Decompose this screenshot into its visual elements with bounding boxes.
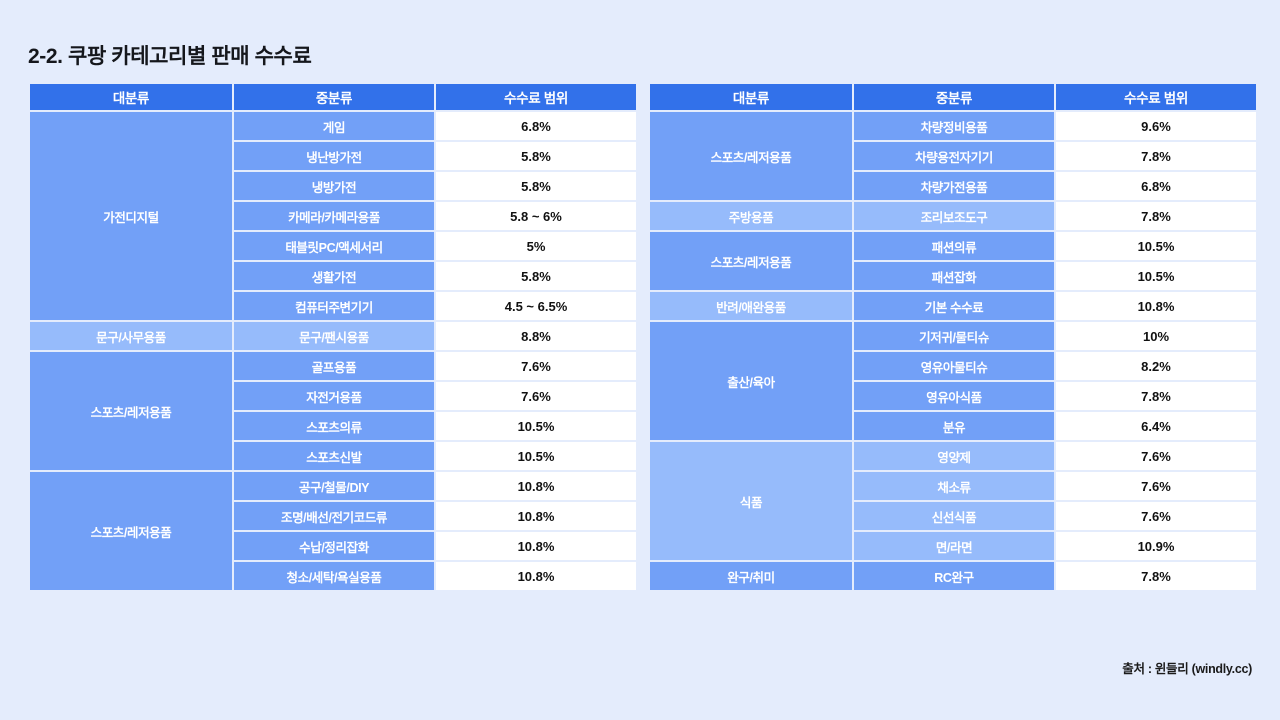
- table-row: 스포츠/레저용품골프용품7.6%: [30, 352, 636, 380]
- cell-middle-category: 패션의류: [854, 232, 1054, 260]
- table-row: 스포츠/레저용품패션의류10.5%: [650, 232, 1256, 260]
- cell-middle-category: 자전거용품: [234, 382, 434, 410]
- cell-middle-category: 채소류: [854, 472, 1054, 500]
- cell-fee-rate: 5.8%: [436, 172, 636, 200]
- cell-middle-category: 영유아물티슈: [854, 352, 1054, 380]
- cell-fee-rate: 10%: [1056, 322, 1256, 350]
- cell-middle-category: 스포츠의류: [234, 412, 434, 440]
- cell-middle-category: 냉난방가전: [234, 142, 434, 170]
- cell-middle-category: 문구/팬시용품: [234, 322, 434, 350]
- cell-middle-category: 영양제: [854, 442, 1054, 470]
- cell-fee-rate: 10.8%: [1056, 292, 1256, 320]
- cell-middle-category: 스포츠신발: [234, 442, 434, 470]
- cell-middle-category: 패션잡화: [854, 262, 1054, 290]
- fee-table-right-head: 대분류 중분류 수수료 범위: [650, 84, 1256, 110]
- page-title: 2-2. 쿠팡 카테고리별 판매 수수료: [28, 40, 311, 70]
- cell-major-category: 스포츠/레저용품: [30, 352, 232, 470]
- cell-fee-rate: 10.5%: [436, 412, 636, 440]
- cell-middle-category: 태블릿PC/액세서리: [234, 232, 434, 260]
- table-row: 출산/육아기저귀/물티슈10%: [650, 322, 1256, 350]
- cell-major-category: 주방용품: [650, 202, 852, 230]
- cell-fee-rate: 7.8%: [1056, 562, 1256, 590]
- cell-middle-category: 기본 수수료: [854, 292, 1054, 320]
- cell-major-category: 식품: [650, 442, 852, 560]
- header-rate: 수수료 범위: [1056, 84, 1256, 110]
- cell-middle-category: 생활가전: [234, 262, 434, 290]
- cell-middle-category: 게임: [234, 112, 434, 140]
- table-row: 식품영양제7.6%: [650, 442, 1256, 470]
- cell-fee-rate: 10.8%: [436, 562, 636, 590]
- cell-fee-rate: 7.8%: [1056, 382, 1256, 410]
- table-row: 주방용품조리보조도구7.8%: [650, 202, 1256, 230]
- cell-middle-category: 분유: [854, 412, 1054, 440]
- cell-fee-rate: 5%: [436, 232, 636, 260]
- header-major: 대분류: [650, 84, 852, 110]
- cell-middle-category: 조리보조도구: [854, 202, 1054, 230]
- fee-table-left-body: 가전디지털게임6.8%냉난방가전5.8%냉방가전5.8%카메라/카메라용품5.8…: [30, 112, 636, 590]
- cell-middle-category: RC완구: [854, 562, 1054, 590]
- cell-middle-category: 카메라/카메라용품: [234, 202, 434, 230]
- cell-middle-category: 컴퓨터주변기기: [234, 292, 434, 320]
- table-row: 완구/취미RC완구7.8%: [650, 562, 1256, 590]
- cell-fee-rate: 10.8%: [436, 472, 636, 500]
- cell-fee-rate: 5.8%: [436, 262, 636, 290]
- cell-middle-category: 차량가전용품: [854, 172, 1054, 200]
- cell-fee-rate: 6.4%: [1056, 412, 1256, 440]
- cell-fee-rate: 7.8%: [1056, 142, 1256, 170]
- cell-fee-rate: 10.5%: [1056, 232, 1256, 260]
- cell-major-category: 완구/취미: [650, 562, 852, 590]
- fee-table-left-wrap: 대분류 중분류 수수료 범위 가전디지털게임6.8%냉난방가전5.8%냉방가전5…: [28, 82, 632, 592]
- cell-fee-rate: 5.8 ~ 6%: [436, 202, 636, 230]
- cell-fee-rate: 7.6%: [436, 382, 636, 410]
- table-row: 스포츠/레저용품차량정비용품9.6%: [650, 112, 1256, 140]
- cell-fee-rate: 8.2%: [1056, 352, 1256, 380]
- cell-fee-rate: 10.9%: [1056, 532, 1256, 560]
- cell-fee-rate: 4.5 ~ 6.5%: [436, 292, 636, 320]
- fee-table-right-wrap: 대분류 중분류 수수료 범위 스포츠/레저용품차량정비용품9.6%차량용전자기기…: [648, 82, 1252, 592]
- table-row: 스포츠/레저용품공구/철물/DIY10.8%: [30, 472, 636, 500]
- table-row: 반려/애완용품기본 수수료10.8%: [650, 292, 1256, 320]
- cell-middle-category: 차량정비용품: [854, 112, 1054, 140]
- cell-major-category: 출산/육아: [650, 322, 852, 440]
- cell-fee-rate: 7.6%: [436, 352, 636, 380]
- cell-major-category: 스포츠/레저용품: [650, 112, 852, 200]
- cell-fee-rate: 6.8%: [1056, 172, 1256, 200]
- cell-middle-category: 골프용품: [234, 352, 434, 380]
- cell-fee-rate: 5.8%: [436, 142, 636, 170]
- header-rate: 수수료 범위: [436, 84, 636, 110]
- cell-fee-rate: 9.6%: [1056, 112, 1256, 140]
- cell-fee-rate: 8.8%: [436, 322, 636, 350]
- source-note: 출처 : 윈들리 (windly.cc): [1122, 658, 1252, 677]
- table-row: 문구/사무용품문구/팬시용품8.8%: [30, 322, 636, 350]
- fee-table-right-body: 스포츠/레저용품차량정비용품9.6%차량용전자기기7.8%차량가전용품6.8%주…: [650, 112, 1256, 590]
- cell-major-category: 가전디지털: [30, 112, 232, 320]
- cell-middle-category: 청소/세탁/욕실용품: [234, 562, 434, 590]
- cell-fee-rate: 10.5%: [436, 442, 636, 470]
- cell-middle-category: 신선식품: [854, 502, 1054, 530]
- table-row: 가전디지털게임6.8%: [30, 112, 636, 140]
- cell-middle-category: 공구/철물/DIY: [234, 472, 434, 500]
- cell-fee-rate: 7.6%: [1056, 502, 1256, 530]
- cell-major-category: 스포츠/레저용품: [650, 232, 852, 290]
- cell-middle-category: 조명/배선/전기코드류: [234, 502, 434, 530]
- cell-fee-rate: 7.8%: [1056, 202, 1256, 230]
- fee-table-right: 대분류 중분류 수수료 범위 스포츠/레저용품차량정비용품9.6%차량용전자기기…: [648, 82, 1258, 592]
- header-middle: 중분류: [234, 84, 434, 110]
- cell-major-category: 반려/애완용품: [650, 292, 852, 320]
- cell-middle-category: 기저귀/물티슈: [854, 322, 1054, 350]
- table-header-row: 대분류 중분류 수수료 범위: [30, 84, 636, 110]
- cell-major-category: 문구/사무용품: [30, 322, 232, 350]
- fee-table-left-head: 대분류 중분류 수수료 범위: [30, 84, 636, 110]
- cell-middle-category: 냉방가전: [234, 172, 434, 200]
- cell-middle-category: 차량용전자기기: [854, 142, 1054, 170]
- cell-fee-rate: 10.8%: [436, 532, 636, 560]
- header-major: 대분류: [30, 84, 232, 110]
- table-header-row: 대분류 중분류 수수료 범위: [650, 84, 1256, 110]
- fee-table-left: 대분류 중분류 수수료 범위 가전디지털게임6.8%냉난방가전5.8%냉방가전5…: [28, 82, 638, 592]
- cell-fee-rate: 7.6%: [1056, 442, 1256, 470]
- cell-fee-rate: 7.6%: [1056, 472, 1256, 500]
- cell-middle-category: 수납/정리잡화: [234, 532, 434, 560]
- cell-fee-rate: 10.5%: [1056, 262, 1256, 290]
- cell-middle-category: 면/라면: [854, 532, 1054, 560]
- header-middle: 중분류: [854, 84, 1054, 110]
- cell-middle-category: 영유아식품: [854, 382, 1054, 410]
- cell-major-category: 스포츠/레저용품: [30, 472, 232, 590]
- cell-fee-rate: 6.8%: [436, 112, 636, 140]
- cell-fee-rate: 10.8%: [436, 502, 636, 530]
